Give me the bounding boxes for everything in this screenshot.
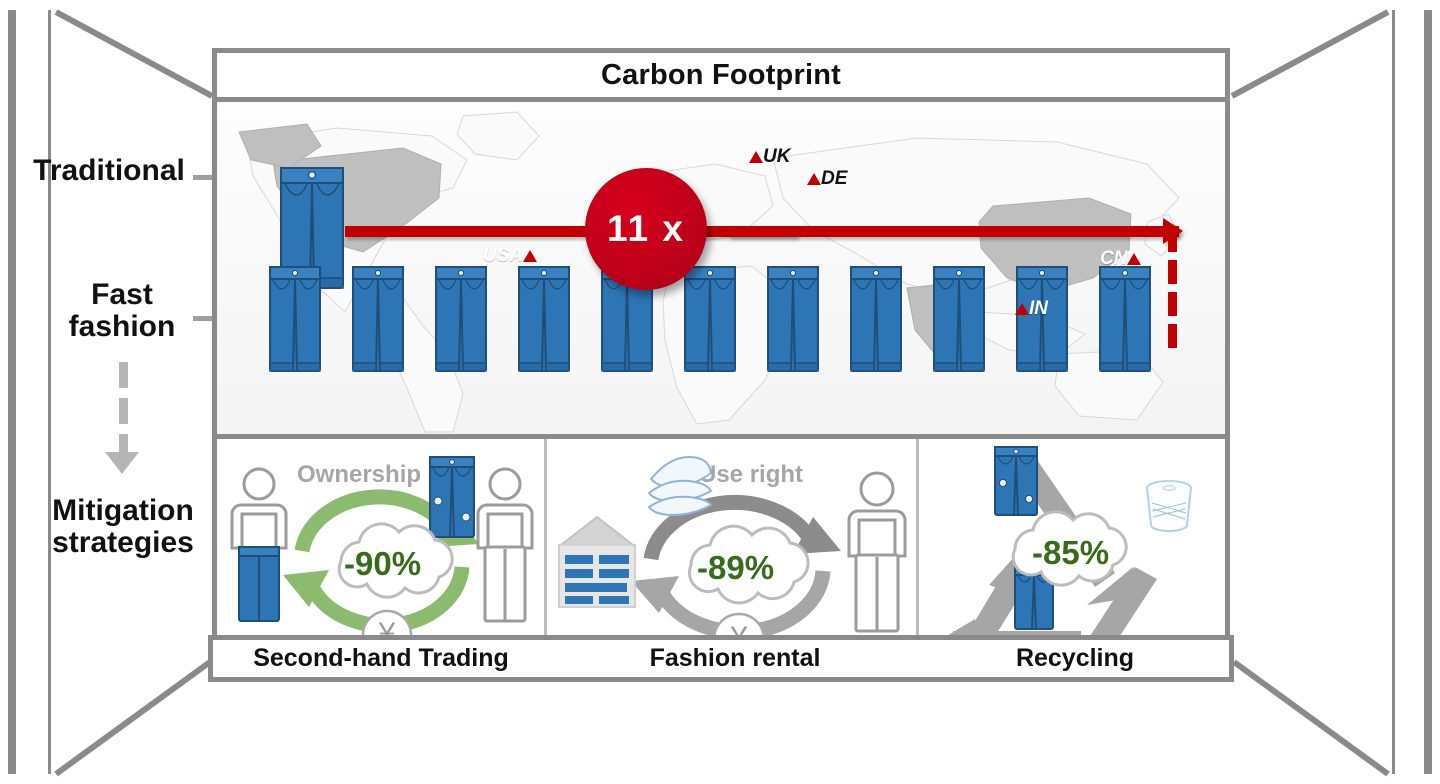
person-with-jeans-icon bbox=[232, 469, 286, 621]
caption-recycling: Recycling bbox=[921, 644, 1229, 673]
panel-caption-bar: Second-hand Trading Fashion rental Recyc… bbox=[208, 635, 1234, 682]
jeans-fast-fashion bbox=[765, 264, 821, 374]
frame-post-left-outer bbox=[8, 10, 16, 774]
map-marker-usa-label: USA bbox=[483, 245, 523, 266]
multiplier-badge: 11 x bbox=[585, 168, 707, 290]
map-marker-usa: USA bbox=[483, 245, 537, 267]
panel3-reduction-value: -85% bbox=[1032, 534, 1109, 572]
dashed-arrow-segment bbox=[119, 398, 128, 424]
route-line-right bbox=[729, 226, 1179, 237]
jeans-icon bbox=[433, 264, 489, 374]
route-dash-segment bbox=[1168, 228, 1177, 252]
jeans-fast-fashion bbox=[931, 264, 987, 374]
jeans-fast-fashion bbox=[433, 264, 489, 374]
jeans-transfer-icon bbox=[430, 457, 474, 537]
dashed-arrow-head bbox=[105, 452, 139, 474]
map-marker-de-label: DE bbox=[821, 168, 847, 189]
world-map-area: 11 x USA UK DE CN IN bbox=[217, 102, 1225, 434]
jeans-icon bbox=[931, 264, 987, 374]
marker-triangle-icon bbox=[749, 151, 763, 163]
dashed-arrow-segment bbox=[119, 434, 128, 454]
jeans-icon bbox=[350, 264, 406, 374]
figure-title: Carbon Footprint bbox=[601, 59, 841, 92]
jeans-icon bbox=[995, 447, 1037, 515]
jeans-fast-fashion bbox=[516, 264, 572, 374]
caption-second-hand-trading: Second-hand Trading bbox=[213, 644, 549, 673]
map-marker-in-label: IN bbox=[1029, 298, 1048, 319]
row-label-fast-fashion-line2: fashion bbox=[52, 311, 192, 343]
frame-post-right-inner bbox=[1392, 10, 1395, 774]
marker-triangle-icon bbox=[807, 173, 821, 185]
jeans-icon bbox=[1097, 264, 1153, 374]
row-label-mitigation-line2: strategies bbox=[28, 527, 218, 559]
caption-fashion-rental: Fashion rental bbox=[549, 644, 921, 673]
jeans-icon bbox=[765, 264, 821, 374]
map-marker-uk: UK bbox=[749, 146, 790, 168]
jeans-icon bbox=[267, 264, 323, 374]
jeans-icon bbox=[516, 264, 572, 374]
jeans-fast-fashion bbox=[1097, 264, 1153, 374]
marker-triangle-icon bbox=[1127, 253, 1141, 265]
map-marker-de: DE bbox=[807, 168, 847, 190]
row-label-fast-fashion: Fast fashion bbox=[52, 279, 192, 344]
frame-post-right-outer bbox=[1424, 10, 1432, 774]
map-marker-cn-label: CN bbox=[1100, 248, 1127, 269]
folded-clothes-icon bbox=[649, 457, 711, 515]
person-empty-icon bbox=[849, 473, 905, 631]
route-dash-segment bbox=[1168, 292, 1177, 316]
person-empty-icon bbox=[478, 469, 532, 621]
row-label-mitigation: Mitigation strategies bbox=[28, 495, 218, 560]
jeans-fast-fashion bbox=[267, 264, 323, 374]
figure-title-bar: Carbon Footprint bbox=[217, 53, 1225, 102]
marker-triangle-icon bbox=[523, 250, 537, 262]
row-label-mitigation-line1: Mitigation bbox=[28, 495, 218, 527]
marker-triangle-icon bbox=[1015, 303, 1029, 315]
dashed-arrow-segment bbox=[119, 362, 128, 388]
map-marker-cn: CN bbox=[1100, 248, 1141, 270]
map-marker-uk-label: UK bbox=[763, 146, 790, 167]
rental-store-icon bbox=[559, 517, 635, 607]
textile-roll-icon bbox=[1147, 481, 1191, 531]
jeans-icon bbox=[848, 264, 904, 374]
row-label-traditional: Traditional bbox=[16, 155, 202, 187]
panel1-reduction-value: -90% bbox=[344, 545, 421, 583]
jeans-fast-fashion bbox=[682, 264, 738, 374]
panel2-reduction-value: -89% bbox=[697, 549, 774, 587]
jeans-icon bbox=[682, 264, 738, 374]
frame-post-left-inner bbox=[48, 10, 51, 774]
route-dash-segment bbox=[1168, 260, 1177, 284]
jeans-fast-fashion bbox=[350, 264, 406, 374]
row-label-fast-fashion-line1: Fast bbox=[52, 279, 192, 311]
map-marker-in: IN bbox=[1015, 298, 1048, 320]
route-dash-segment bbox=[1168, 324, 1177, 348]
figure-canvas: Traditional Fast fashion Mitigation stra… bbox=[0, 0, 1440, 784]
main-panel: Carbon Footprint bbox=[212, 48, 1230, 682]
jeans-fast-fashion bbox=[848, 264, 904, 374]
